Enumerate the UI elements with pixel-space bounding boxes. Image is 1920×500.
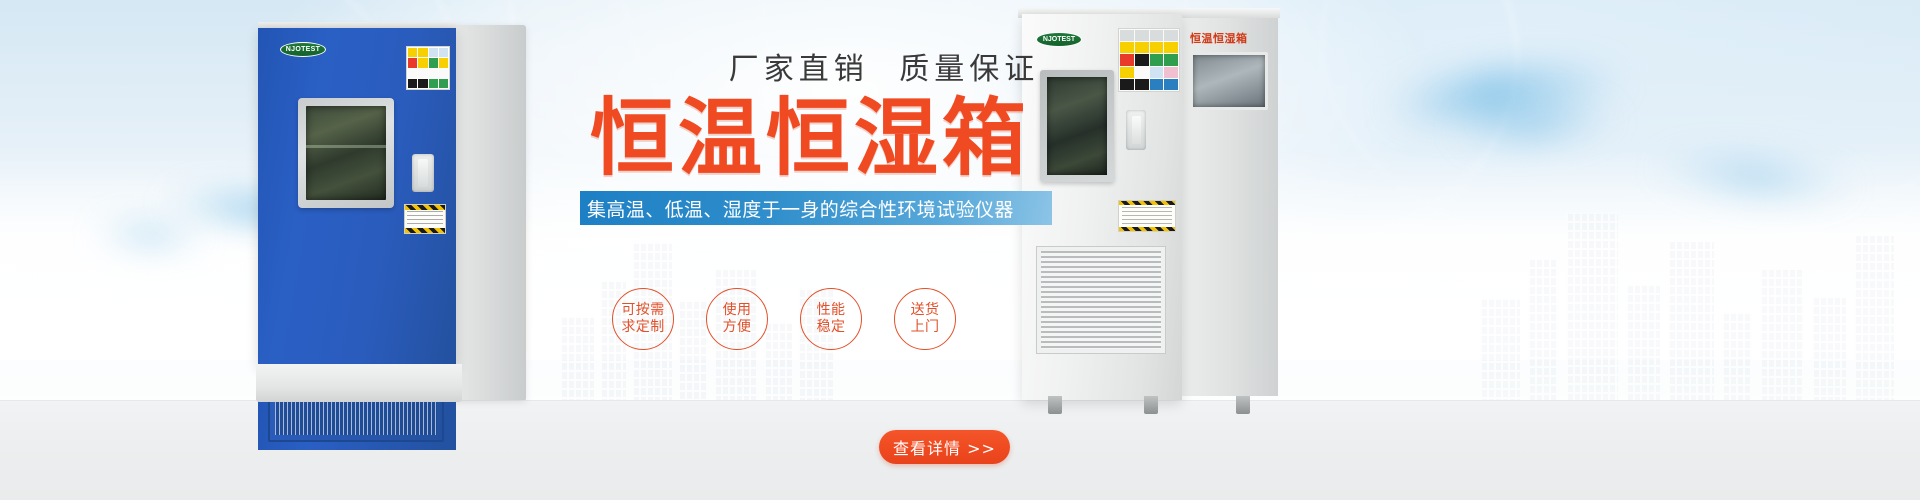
feature-line-2: 求定制 (621, 319, 664, 336)
feature-line-2: 方便 (723, 319, 752, 336)
spec-plate-text-lines (407, 211, 443, 227)
chamber-door-handle (1126, 110, 1146, 150)
chamber-viewing-window (298, 98, 394, 208)
chamber-foot (1144, 396, 1158, 414)
banner-copy-block: 厂家直销 质量保证 恒温恒湿箱 集高温、低温、湿度于一身的综合性环境试验仪器 (576, 44, 1096, 225)
skyline-building (1760, 268, 1804, 408)
feature-badge-custom[interactable]: 可按需 求定制 (612, 288, 674, 350)
tagline-part-1: 厂家直销 (729, 52, 869, 87)
view-details-button[interactable]: 查看详情 >> (879, 430, 1010, 464)
feature-line-1: 送货 (911, 302, 940, 319)
chamber-controller-screen (1190, 52, 1268, 110)
skyline-building (1566, 212, 1618, 408)
spec-plate-text-lines (1122, 207, 1172, 225)
chamber-foot (1236, 396, 1250, 414)
skyline-building (560, 316, 594, 408)
njotest-logo-badge: NJOTEST (280, 42, 326, 57)
feature-line-2: 上门 (911, 319, 940, 336)
chamber-foot (1048, 396, 1062, 414)
skyline-building (1626, 284, 1660, 408)
product-banner: NJOTEST NJOTEST (0, 0, 1920, 500)
feature-badge-easy-use[interactable]: 使用 方便 (706, 288, 768, 350)
skyline-building (1668, 240, 1714, 408)
chamber-spec-plate (1118, 200, 1176, 232)
feature-line-1: 可按需 (621, 302, 664, 319)
chamber-door-handle (412, 154, 434, 192)
chamber-condenser-vent (1036, 246, 1166, 354)
chamber-spec-plate (404, 204, 446, 234)
banner-headline: 恒温恒湿箱 (590, 94, 1096, 183)
skyline-watermark-right (1480, 198, 1900, 408)
skyline-building (1528, 258, 1558, 408)
chamber-side-panel (446, 25, 526, 400)
product-image-left-chamber: NJOTEST (258, 28, 526, 400)
banner-subtitle-text: 集高温、低温、湿度于一身的综合性环境试验仪器 (580, 195, 1014, 222)
skyline-building (1812, 296, 1846, 408)
feature-line-1: 使用 (723, 302, 752, 319)
skyline-building (1480, 298, 1520, 408)
tagline-part-2: 质量保证 (899, 52, 1039, 87)
chamber-front-body: NJOTEST (258, 28, 456, 366)
view-details-label: 查看详情 >> (893, 435, 996, 459)
chamber-panel-label: 恒温恒湿箱 (1190, 30, 1248, 46)
feature-line-1: 性能 (817, 302, 846, 319)
chamber-base (256, 364, 462, 402)
feature-line-2: 稳定 (817, 319, 846, 336)
banner-tagline: 厂家直销 质量保证 (672, 44, 1096, 88)
skyline-building (1722, 312, 1752, 408)
warning-sticker-grid (1118, 28, 1180, 92)
feature-badge-list: 可按需 求定制 使用 方便 性能 稳定 送货 上门 (612, 288, 956, 350)
feature-badge-delivery[interactable]: 送货 上门 (894, 288, 956, 350)
chamber-window-glass (306, 106, 386, 200)
banner-subtitle-bar: 集高温、低温、湿度于一身的综合性环境试验仪器 (580, 191, 1052, 225)
skyline-building (1854, 234, 1894, 408)
warning-sticker-grid (406, 46, 450, 90)
feature-badge-stable[interactable]: 性能 稳定 (800, 288, 862, 350)
